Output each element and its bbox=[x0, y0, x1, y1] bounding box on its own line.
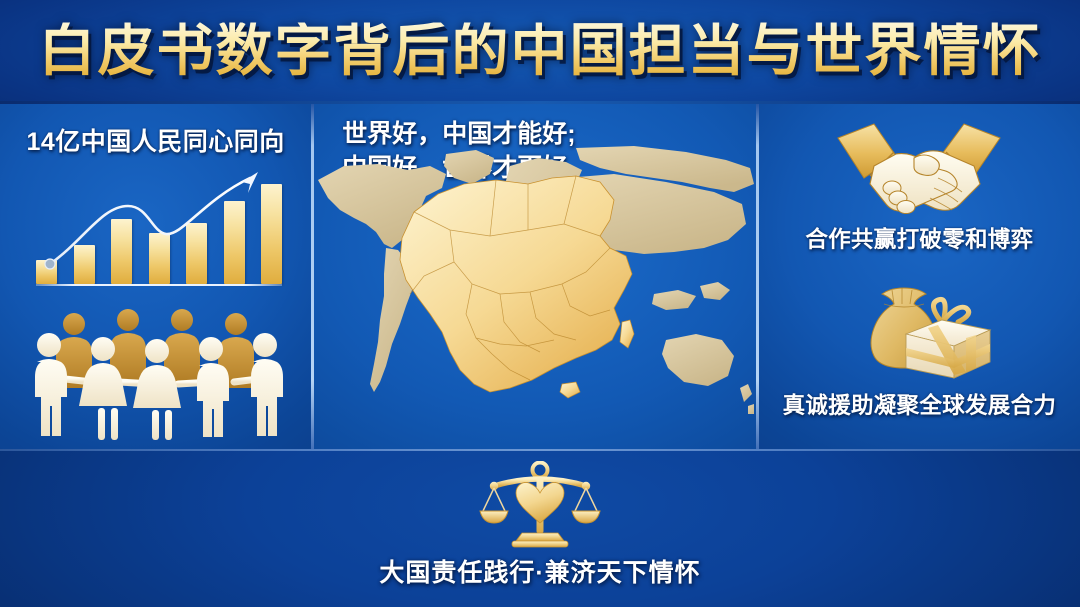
growth-arrow-icon bbox=[36, 166, 282, 286]
bar-chart-icon bbox=[36, 166, 282, 286]
left-panel-heading: 14亿中国人民同心同向 bbox=[0, 122, 311, 158]
page-title: 白皮书数字背后的中国担当与世界情怀 bbox=[0, 22, 1080, 79]
money-bag-gift-icon bbox=[844, 276, 994, 380]
chart-baseline bbox=[36, 284, 282, 286]
balance-scale-heart-icon bbox=[478, 461, 602, 549]
panel-row: 14亿中国人民同心同向 bbox=[0, 104, 1080, 449]
infographic-poster: 白皮书数字背后的中国担当与世界情怀 14亿中国人民同心同向 bbox=[0, 0, 1080, 607]
china-map-icon bbox=[400, 176, 634, 398]
right-caption-cooperation: 合作共赢打破零和博弈 bbox=[759, 222, 1080, 254]
poster-footer: 大国责任践行·兼济天下情怀 bbox=[0, 449, 1080, 607]
world-map-icon bbox=[314, 144, 756, 449]
panel-left: 14亿中国人民同心同向 bbox=[0, 104, 311, 449]
panel-center: 世界好，中国才能好; 中国好，世界才更好 bbox=[314, 104, 756, 449]
right-caption-aid: 真诚援助凝聚全球发展合力 bbox=[759, 388, 1080, 420]
handshake-icon bbox=[834, 118, 1004, 216]
footer-caption: 大国责任践行·兼济天下情怀 bbox=[0, 553, 1080, 589]
panel-right: 合作共赢打破零和博弈 bbox=[759, 104, 1080, 449]
people-holding-hands-icon bbox=[26, 296, 292, 442]
poster-header: 白皮书数字背后的中国担当与世界情怀 bbox=[0, 0, 1080, 104]
